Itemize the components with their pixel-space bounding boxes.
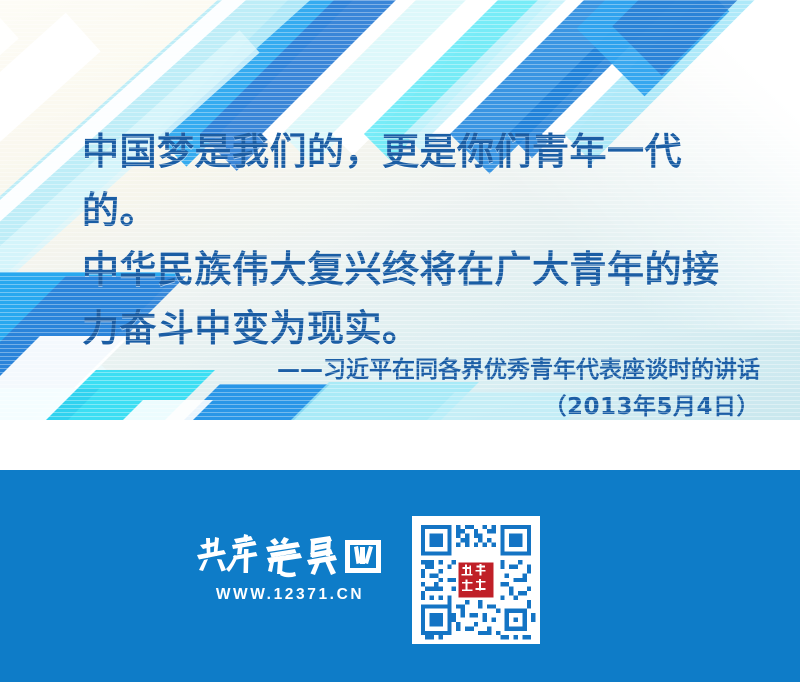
decorative-graphic-panel: 中国梦是我们的，更是你们青年一代的。 中华民族伟大复兴终将在广大青年的接 力奋斗… bbox=[0, 0, 800, 420]
white-separator bbox=[0, 420, 800, 470]
poster-root: 中国梦是我们的，更是你们青年一代的。 中华民族伟大复兴终将在广大青年的接 力奋斗… bbox=[0, 0, 800, 682]
attribution-source: ——习近平在同各界优秀青年代表座谈时的讲话 bbox=[277, 357, 760, 383]
brand-url-text: WWW.12371.CN bbox=[190, 586, 390, 604]
attribution-date: （2013年5月4日） bbox=[140, 389, 760, 420]
qr-code[interactable] bbox=[412, 516, 540, 644]
brand-calligraphy-icon bbox=[195, 532, 385, 578]
brand-block[interactable]: WWW.12371.CN bbox=[190, 532, 390, 604]
footer-bar: WWW.12371.CN bbox=[0, 470, 800, 682]
quote-text: 中国梦是我们的，更是你们青年一代的。 中华民族伟大复兴终将在广大青年的接 力奋斗… bbox=[82, 122, 742, 358]
attribution-block: ——习近平在同各界优秀青年代表座谈时的讲话 （2013年5月4日） bbox=[140, 352, 760, 420]
qr-code-icon bbox=[412, 516, 540, 644]
